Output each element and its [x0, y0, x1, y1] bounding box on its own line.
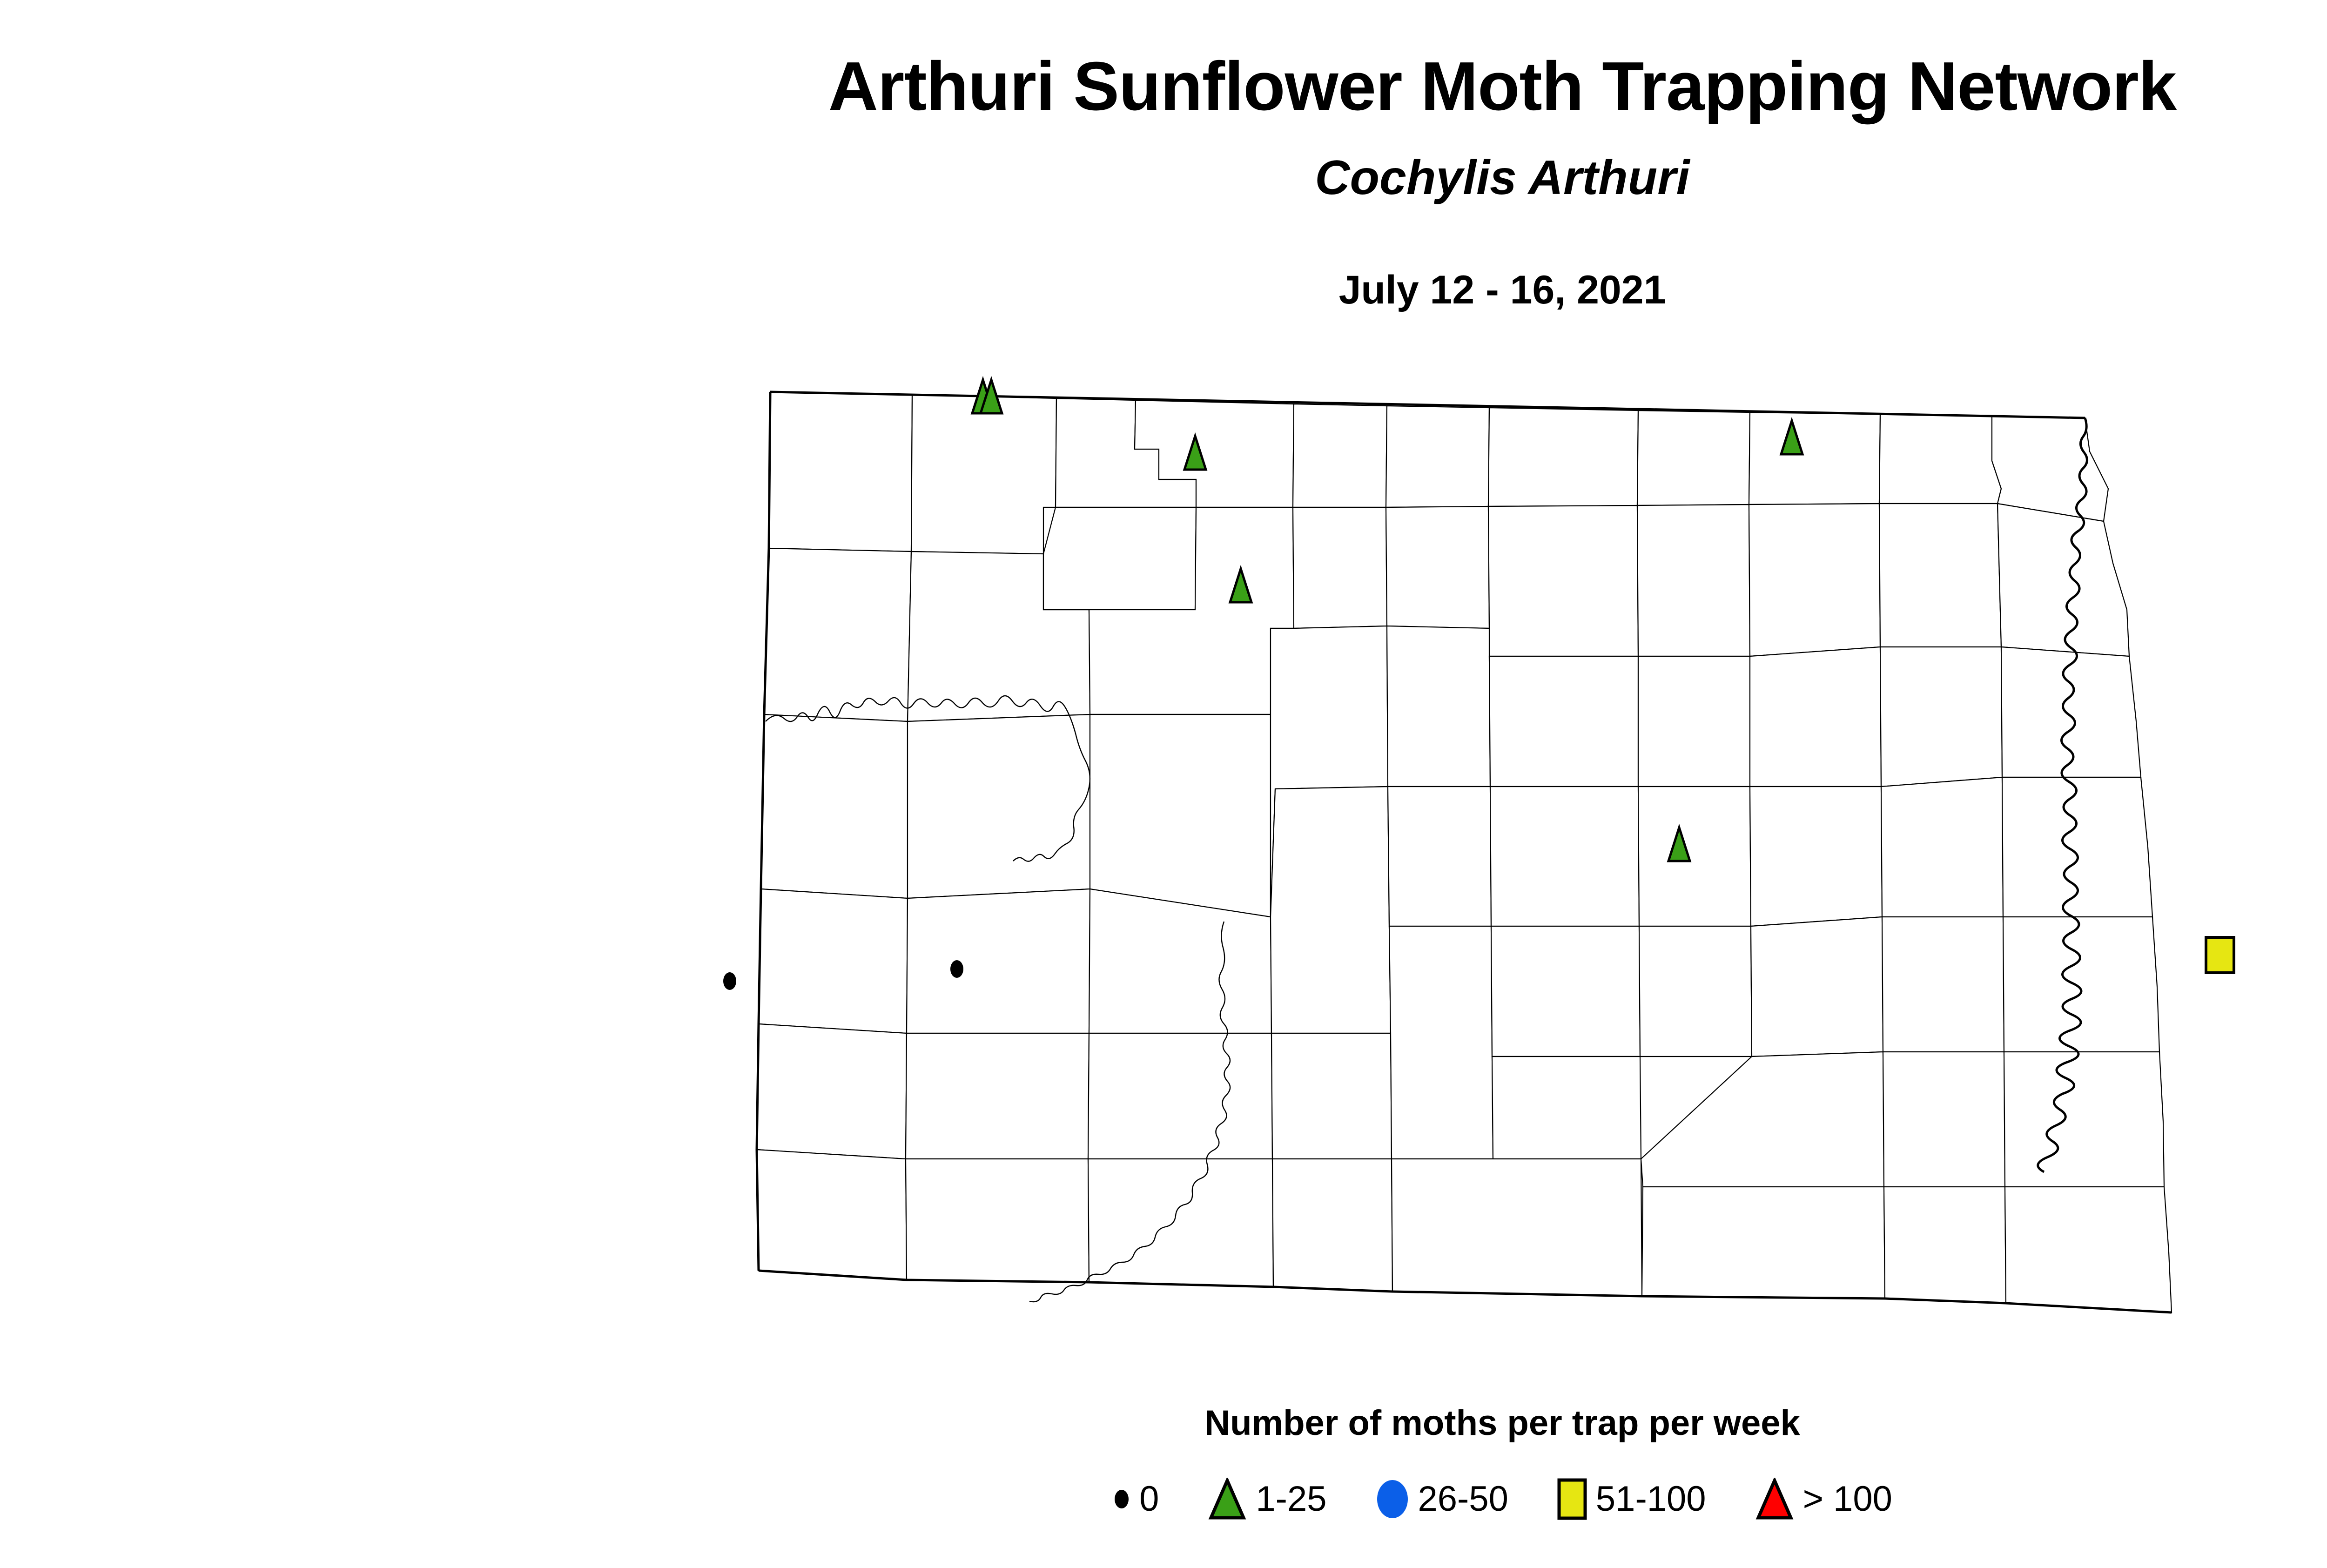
- legend-item-label: 51-100: [1596, 1481, 1706, 1517]
- triangle-swatch-icon: [1207, 1478, 1247, 1521]
- dot-swatch-icon: [1112, 1478, 1131, 1521]
- legend: 01-2526-5051-100> 100: [0, 1478, 2327, 1521]
- legend-item-label: > 100: [1803, 1481, 1892, 1517]
- square-swatch-icon: [1557, 1478, 1587, 1521]
- legend-caption: Number of moths per trap per week: [0, 1406, 2327, 1441]
- legend-item[interactable]: 1-25: [1207, 1478, 1326, 1521]
- county-layer: [757, 392, 2172, 1312]
- page-title: Arthuri Sunflower Moth Trapping Network: [0, 52, 2327, 121]
- trap-site-marker[interactable]: [2206, 937, 2234, 973]
- legend-item[interactable]: 26-50: [1375, 1478, 1508, 1521]
- trap-site-marker[interactable]: [950, 960, 963, 978]
- legend-item-label: 26-50: [1418, 1481, 1508, 1517]
- trap-site-marker[interactable]: [723, 972, 736, 990]
- species-title: Cochylis Arthuri: [0, 154, 2327, 202]
- map-svg[interactable]: [689, 368, 2327, 1392]
- triangle-swatch-icon: [1755, 1478, 1795, 1521]
- date-range: July 12 - 16, 2021: [0, 270, 2327, 310]
- legend-item[interactable]: 51-100: [1557, 1478, 1706, 1521]
- circle-swatch-icon: [1375, 1478, 1410, 1521]
- legend-item[interactable]: > 100: [1755, 1478, 1892, 1521]
- legend-item-label: 1-25: [1256, 1481, 1326, 1517]
- legend-item[interactable]: 0: [1112, 1478, 1159, 1521]
- legend-item-label: 0: [1139, 1481, 1159, 1517]
- north-dakota-map[interactable]: [689, 368, 2327, 1392]
- map-page: Arthuri Sunflower Moth Trapping Network …: [0, 0, 2327, 1568]
